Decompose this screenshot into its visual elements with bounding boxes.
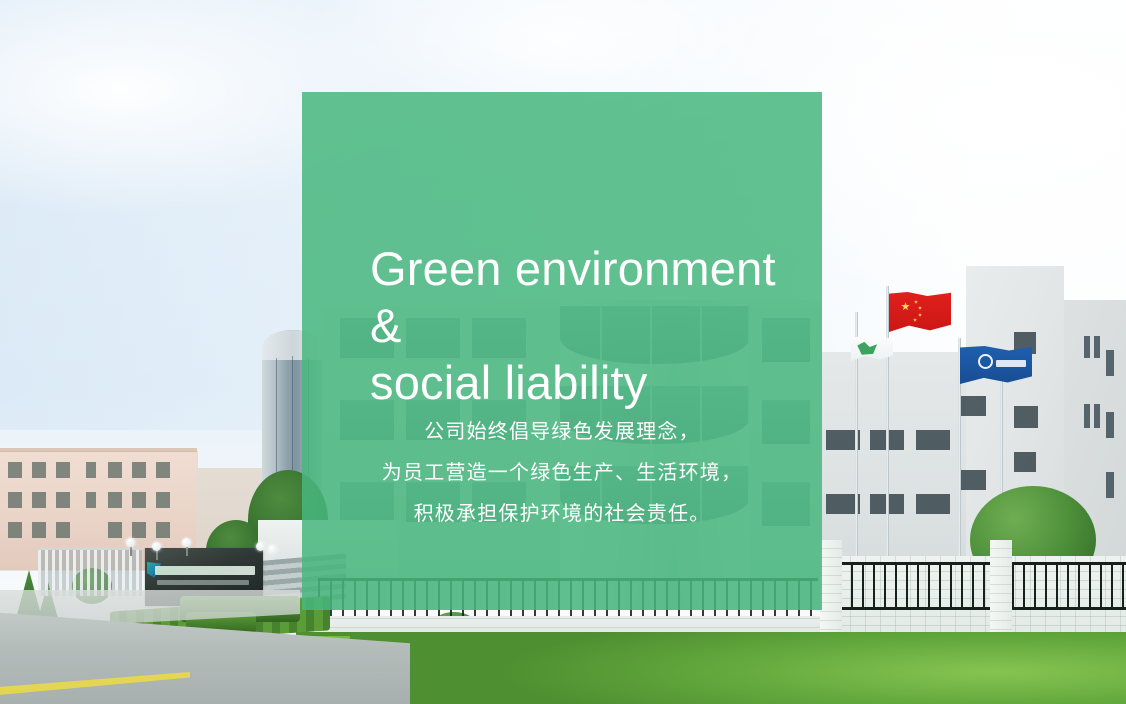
iron-fence [1012, 562, 1126, 610]
window [1014, 406, 1038, 428]
window [32, 492, 46, 508]
company-logo-icon [978, 354, 993, 369]
window [108, 462, 122, 478]
lamp-icon [182, 538, 191, 547]
window [86, 462, 96, 478]
window [56, 522, 70, 538]
lamp-icon [256, 542, 265, 551]
window [56, 492, 70, 508]
description-text: 公司始终倡导绿色发展理念， 为员工营造一个绿色生产、生活环境， 积极承担保护环境… [302, 412, 822, 535]
window [108, 522, 122, 538]
lamp-post [186, 546, 188, 556]
window [156, 462, 170, 478]
window [156, 522, 170, 538]
lawn [296, 632, 1126, 704]
window [1094, 404, 1100, 428]
window [132, 492, 146, 508]
window [32, 522, 46, 538]
window [1106, 472, 1114, 498]
lamp-icon [126, 538, 135, 547]
window [56, 462, 70, 478]
description-line-1: 公司始终倡导绿色发展理念， [302, 412, 822, 453]
window [1106, 412, 1114, 438]
lamp-icon [152, 542, 161, 551]
signboard-company-name-en [157, 580, 249, 585]
signboard-company-name [155, 566, 255, 575]
iron-fence [840, 562, 990, 610]
window [132, 522, 146, 538]
china-national-flag [889, 292, 951, 332]
window [8, 492, 22, 508]
window [916, 494, 950, 514]
window [1014, 452, 1036, 472]
window [960, 396, 986, 416]
window [960, 470, 986, 490]
window [1084, 404, 1090, 428]
window [1106, 350, 1114, 376]
window [108, 492, 122, 508]
company-flag-text [996, 360, 1026, 367]
window [8, 462, 22, 478]
page-title: Green environment & social liability [370, 240, 810, 411]
green-overlay-panel: Green environment & social liability 公司始… [302, 92, 822, 610]
hero-banner: Green environment & social liability 公司始… [0, 0, 1126, 704]
description-line-3: 积极承担保护环境的社会责任。 [302, 494, 822, 535]
flagpole [886, 286, 889, 576]
window [86, 492, 96, 508]
window [8, 522, 22, 538]
entrance-gate [38, 548, 142, 596]
description-line-2: 为员工营造一个绿色生产、生活环境， [302, 453, 822, 494]
lamp-icon [268, 545, 277, 554]
lamp-post [130, 546, 132, 556]
window [32, 462, 46, 478]
window [1084, 336, 1090, 358]
lamp-post [156, 550, 158, 560]
window [156, 492, 170, 508]
window [916, 430, 950, 450]
window [1094, 336, 1100, 358]
window [132, 462, 146, 478]
